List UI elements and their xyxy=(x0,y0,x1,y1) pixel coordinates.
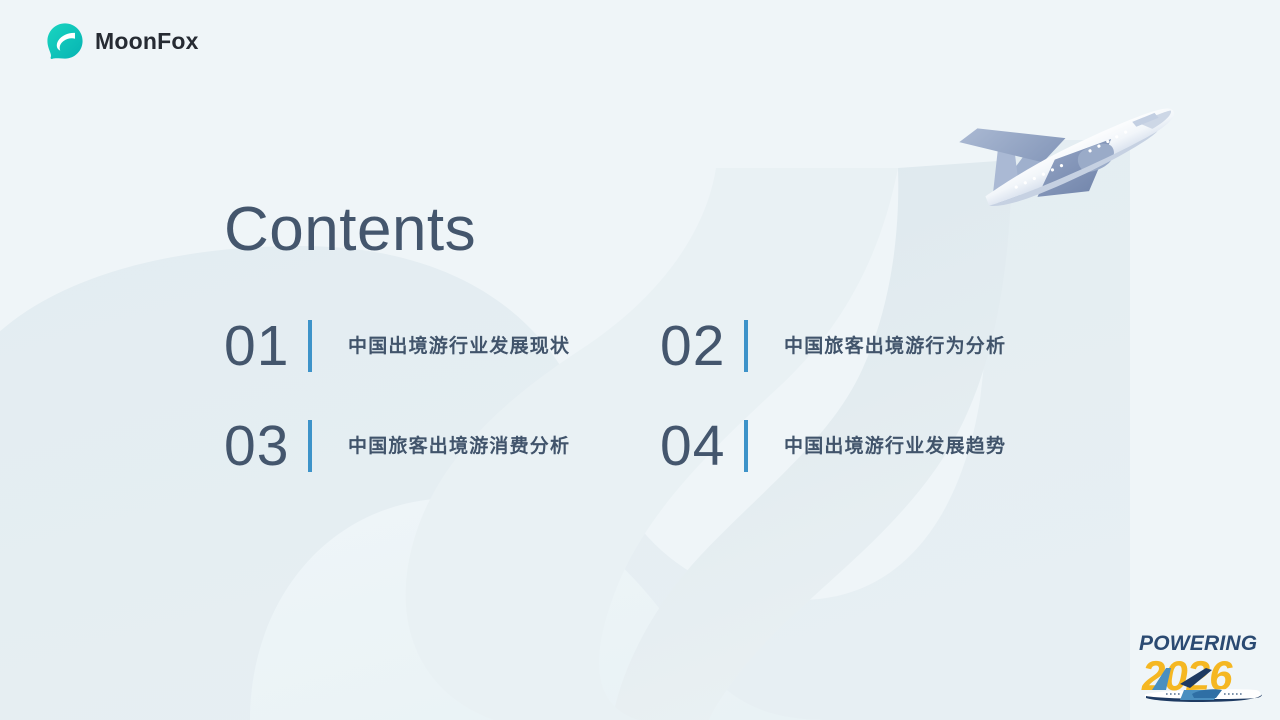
contents-item-label: 中国出境游行业发展趋势 xyxy=(784,437,1006,456)
slide-root: MoonFox Contents 01 中国出境游行业发展现状 02 中国旅客出… xyxy=(0,0,1280,720)
contents-item-number: 04 xyxy=(660,418,742,475)
contents-item-label: 中国旅客出境游行为分析 xyxy=(784,337,1006,356)
powering-2026-badge: POWERING 2026 xyxy=(1136,628,1268,712)
contents-item-label: 中国旅客出境游消费分析 xyxy=(348,437,570,456)
contents-list: 01 中国出境游行业发展现状 02 中国旅客出境游行为分析 03 中国旅客出境游… xyxy=(224,306,1104,506)
contents-item-number: 03 xyxy=(224,418,306,475)
contents-item-02[interactable]: 02 中国旅客出境游行为分析 xyxy=(660,306,1096,386)
contents-item-divider xyxy=(744,420,748,472)
contents-item-label: 中国出境游行业发展现状 xyxy=(348,337,570,356)
page-title: Contents xyxy=(224,196,476,264)
brand-name: MoonFox xyxy=(95,30,199,53)
contents-item-number: 01 xyxy=(224,318,306,375)
airplane-ascending-icon xyxy=(957,58,1189,229)
contents-item-divider xyxy=(308,320,312,372)
contents-item-03[interactable]: 03 中国旅客出境游消费分析 xyxy=(224,406,660,486)
brand-logo: MoonFox xyxy=(46,22,199,60)
contents-item-divider xyxy=(308,420,312,472)
contents-item-01[interactable]: 01 中国出境游行业发展现状 xyxy=(224,306,660,386)
contents-item-04[interactable]: 04 中国出境游行业发展趋势 xyxy=(660,406,1096,486)
contents-item-number: 02 xyxy=(660,318,742,375)
contents-item-divider xyxy=(744,320,748,372)
moonfox-circle-swoosh-icon xyxy=(46,22,84,60)
